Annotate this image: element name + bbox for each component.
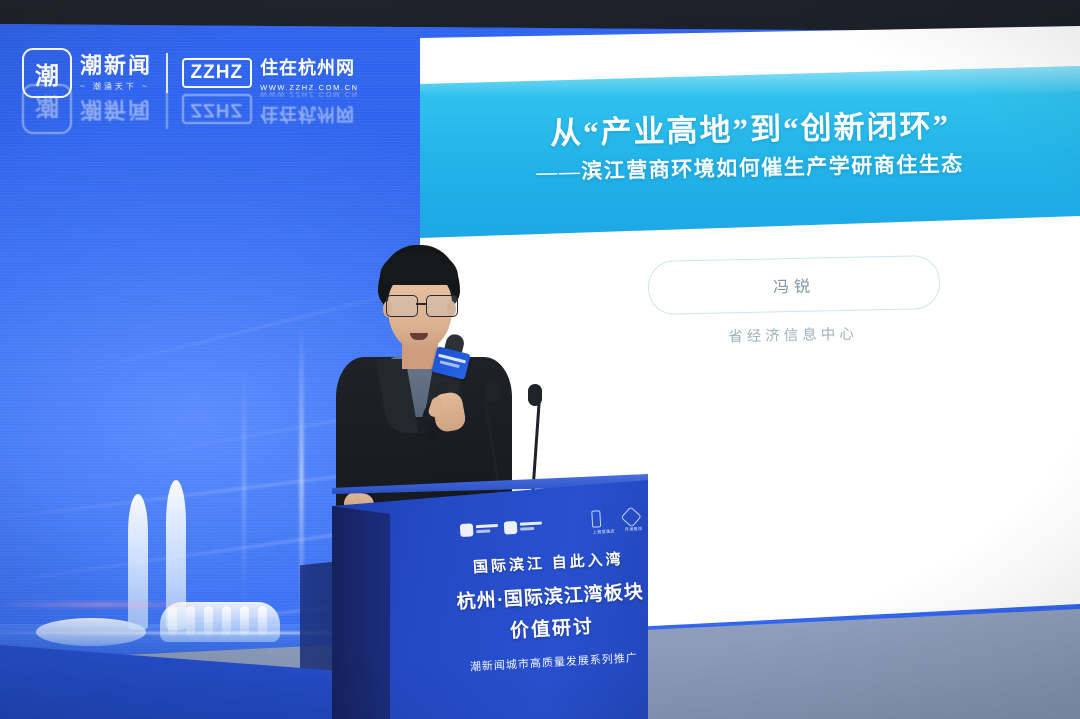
zzhz-name-cn-reflection: 住在杭州网 xyxy=(260,102,359,128)
glasses-lens-right xyxy=(426,295,458,317)
conference-stage-photo: M SPLENDORE 上雅居逸店 仝 滨江 古翠 月澜雅颂 RESIDENCE… xyxy=(0,0,1080,719)
podium-line-3: 价值研讨 xyxy=(440,608,663,647)
podium-yuelan-caption: 月澜雅颂 xyxy=(625,525,643,532)
zzhz-url-reflection: WWW.ZZHZ.COM.CN xyxy=(260,90,359,99)
yuelan-diamond-icon-small xyxy=(621,506,642,527)
podium-text-block: 国际滨江 自此入湾 杭州·国际滨江湾板块 价值研讨 潮新闻城市高质量发展系列推广 xyxy=(437,546,665,676)
chao-news-logo-reflection: 潮 潮新闻 xyxy=(22,84,152,134)
chao-news-name-reflection: 潮新闻 xyxy=(80,97,152,120)
chao-badge-icon-reflection: 潮 xyxy=(22,84,72,134)
podium-side-panel xyxy=(332,494,390,719)
podium-splendore-logo: 上雅居逸店 xyxy=(592,509,615,535)
speaker-affiliation: 省经济信息中心 xyxy=(648,321,938,348)
speaker-name: 冯锐 xyxy=(773,273,816,298)
zzhz-mark-reflection: ZZHZ xyxy=(182,94,253,124)
podium-yuelan-logo: 月澜雅颂 xyxy=(624,508,643,532)
chao-news-name: 潮新闻 xyxy=(80,54,152,77)
zzhz-mark-small xyxy=(504,520,518,534)
podium-splendore-caption: 上雅居逸店 xyxy=(593,528,615,535)
city-tower xyxy=(128,494,148,630)
glasses-bridge xyxy=(416,303,426,305)
gooseneck-mic-capsule xyxy=(486,380,500,402)
pink-accent-light xyxy=(0,603,210,606)
speaker-glasses xyxy=(382,295,460,317)
podium-zzhz-logo xyxy=(504,519,543,534)
chao-badge-icon-small xyxy=(460,523,474,537)
splendore-monogram-icon-small xyxy=(592,510,602,527)
logo-divider-reflection xyxy=(166,89,168,129)
microphone-flag-badge xyxy=(431,346,470,379)
podium-logos-right: 上雅居逸店 月澜雅颂 xyxy=(592,507,643,535)
city-ribbed-building xyxy=(160,602,280,642)
zzhz-name-cn: 住在杭州网 xyxy=(260,54,359,80)
speaker-name-pill: 冯锐 xyxy=(647,255,940,315)
podium-chao-logo xyxy=(460,521,499,536)
led-logo-reflection: 潮 潮新闻 ZZHZ 住在杭州网 WWW.ZZHZ.COM.CN xyxy=(22,84,359,134)
glasses-lens-left xyxy=(386,295,418,317)
zzhz-logo-reflection: ZZHZ 住在杭州网 WWW.ZZHZ.COM.CN xyxy=(182,90,359,128)
slide-cyan-highlight xyxy=(420,66,1080,96)
podium-logos-left xyxy=(460,519,543,537)
